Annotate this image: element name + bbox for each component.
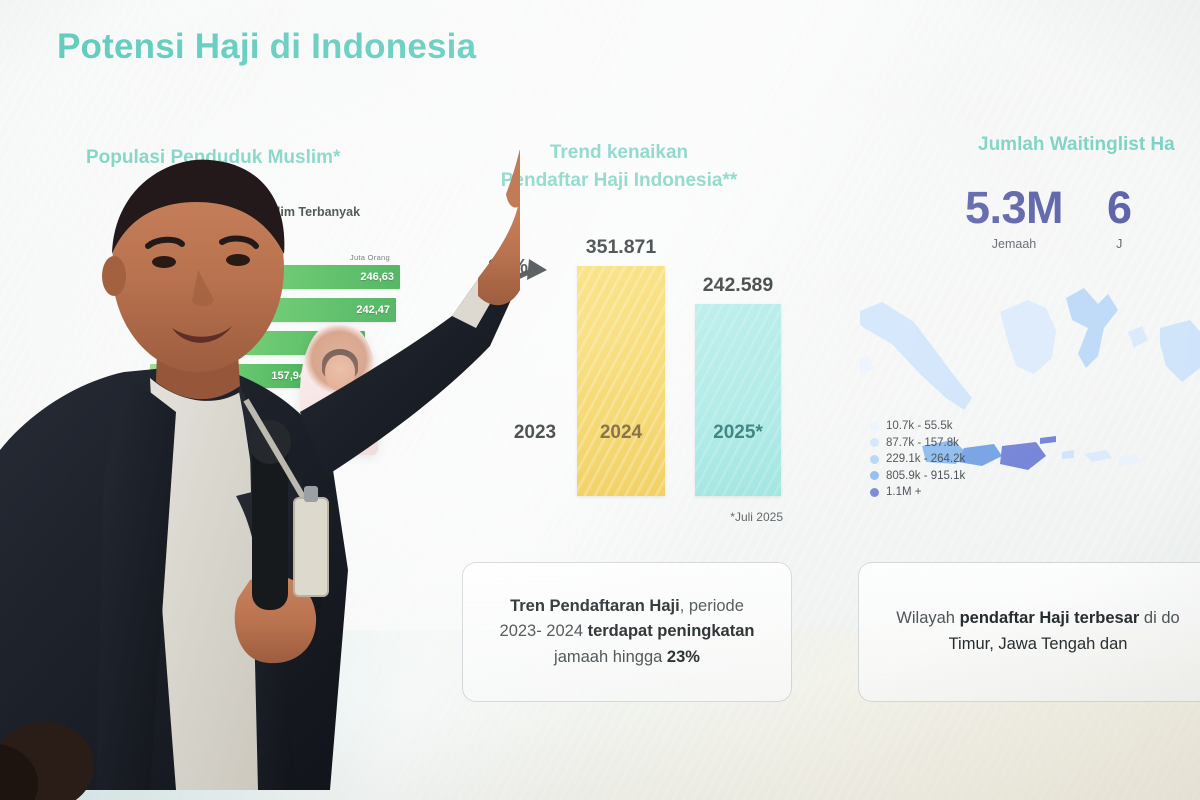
kpi-value: 5.3M [965, 185, 1063, 230]
map-region-jawa-timur [1000, 442, 1046, 470]
legend-item: 805.9k - 915.1k [870, 468, 965, 485]
kpi-label: J [1107, 237, 1132, 251]
legend-color-dot [870, 455, 879, 464]
legend-item: 229.1k - 264.2k [870, 451, 965, 468]
map-region-sumatra [860, 302, 972, 410]
bar [695, 304, 781, 496]
section-heading-waitinglist: Jumlah Waitinglist Ha [978, 131, 1175, 159]
presenter-ear-left [102, 256, 126, 296]
bar [577, 266, 665, 496]
kpi-label: Jemaah [965, 237, 1063, 251]
caption-right-tail: di do [1139, 609, 1179, 627]
bar-column-2024: 351.871 2024 [577, 266, 665, 496]
caption-card-region: Wilayah pendaftar Haji terbesar di do Ti… [858, 562, 1200, 702]
legend-item: 87.7k - 157.8k [870, 435, 965, 452]
presenter-eye-right [226, 254, 250, 266]
bar-value: 351.871 [586, 236, 657, 259]
map-region-nias [860, 356, 874, 374]
map-region-maluku [1128, 326, 1148, 348]
bar-label: 2023 [514, 422, 556, 444]
legend-label: 229.1k - 264.2k [886, 453, 965, 465]
kpi-value: 6 [1107, 185, 1132, 230]
audience-silhouettes [0, 680, 330, 800]
map-region-sulawesi [1066, 288, 1118, 368]
map-region-nusa-tenggara [1084, 450, 1112, 462]
presenter-index-finger [506, 150, 520, 208]
waitinglist-panel: 5.3M Jemaah 6 J [860, 170, 1200, 540]
bar-label: 2024 [600, 422, 642, 444]
kpi-secondary-clipped: 6 J [1107, 185, 1132, 251]
legend-label: 10.7k - 55.5k [886, 420, 952, 432]
legend-color-dot [870, 488, 879, 497]
caption-mid-thin1: , periode [680, 597, 744, 615]
presenter-eye-left [152, 256, 176, 268]
caption-mid-thin3: jamaah hingga [554, 648, 667, 666]
map-legend: 10.7k - 55.5k 87.7k - 157.8k 229.1k - 26… [870, 418, 965, 501]
caption-right-line2: Timur, Jawa Tengah dan [949, 635, 1128, 653]
badge-clip [304, 486, 318, 502]
map-region-madura [1040, 436, 1056, 444]
section-heading-trend-line1: Trend kenaikan [494, 139, 744, 167]
map-region-papua [1160, 320, 1200, 382]
page-title: Potensi Haji di Indonesia [57, 27, 476, 67]
bar-value: 242.589 [703, 274, 774, 297]
map-region-timor [1118, 454, 1140, 466]
presenter-hand [478, 196, 520, 305]
id-badge [294, 498, 328, 596]
legend-color-dot [870, 422, 879, 431]
chart-footnote: *Juli 2025 [730, 510, 783, 524]
bar-label: 2025* [713, 422, 763, 444]
caption-mid-bold1: Tren Pendaftaran Haji [510, 597, 680, 615]
legend-color-dot [870, 438, 879, 447]
legend-item: 10.7k - 55.5k [870, 418, 965, 435]
map-region-bali [1062, 450, 1074, 459]
kpi-waitinglist-total: 5.3M Jemaah [965, 185, 1063, 251]
legend-color-dot [870, 471, 879, 480]
legend-item: 1.1M + [870, 484, 965, 501]
map-region-kalimantan [1000, 300, 1056, 374]
section-heading-trend: Trend kenaikan Pendaftar Haji Indonesia*… [494, 139, 744, 194]
section-heading-trend-line2: Pendaftar Haji Indonesia** [494, 167, 744, 195]
caption-right-bold1: pendaftar Haji terbesar [960, 609, 1140, 627]
legend-label: 87.7k - 157.8k [886, 437, 959, 449]
caption-mid-bold3: 23% [667, 648, 700, 666]
legend-label: 1.1M + [886, 486, 921, 498]
legend-label: 805.9k - 915.1k [886, 470, 965, 482]
caption-right-thin1: Wilayah [896, 609, 959, 627]
bar-column-2025: 242.589 2025* [695, 304, 781, 496]
caption-mid-bold2: terdapat peningkatan [588, 622, 755, 640]
